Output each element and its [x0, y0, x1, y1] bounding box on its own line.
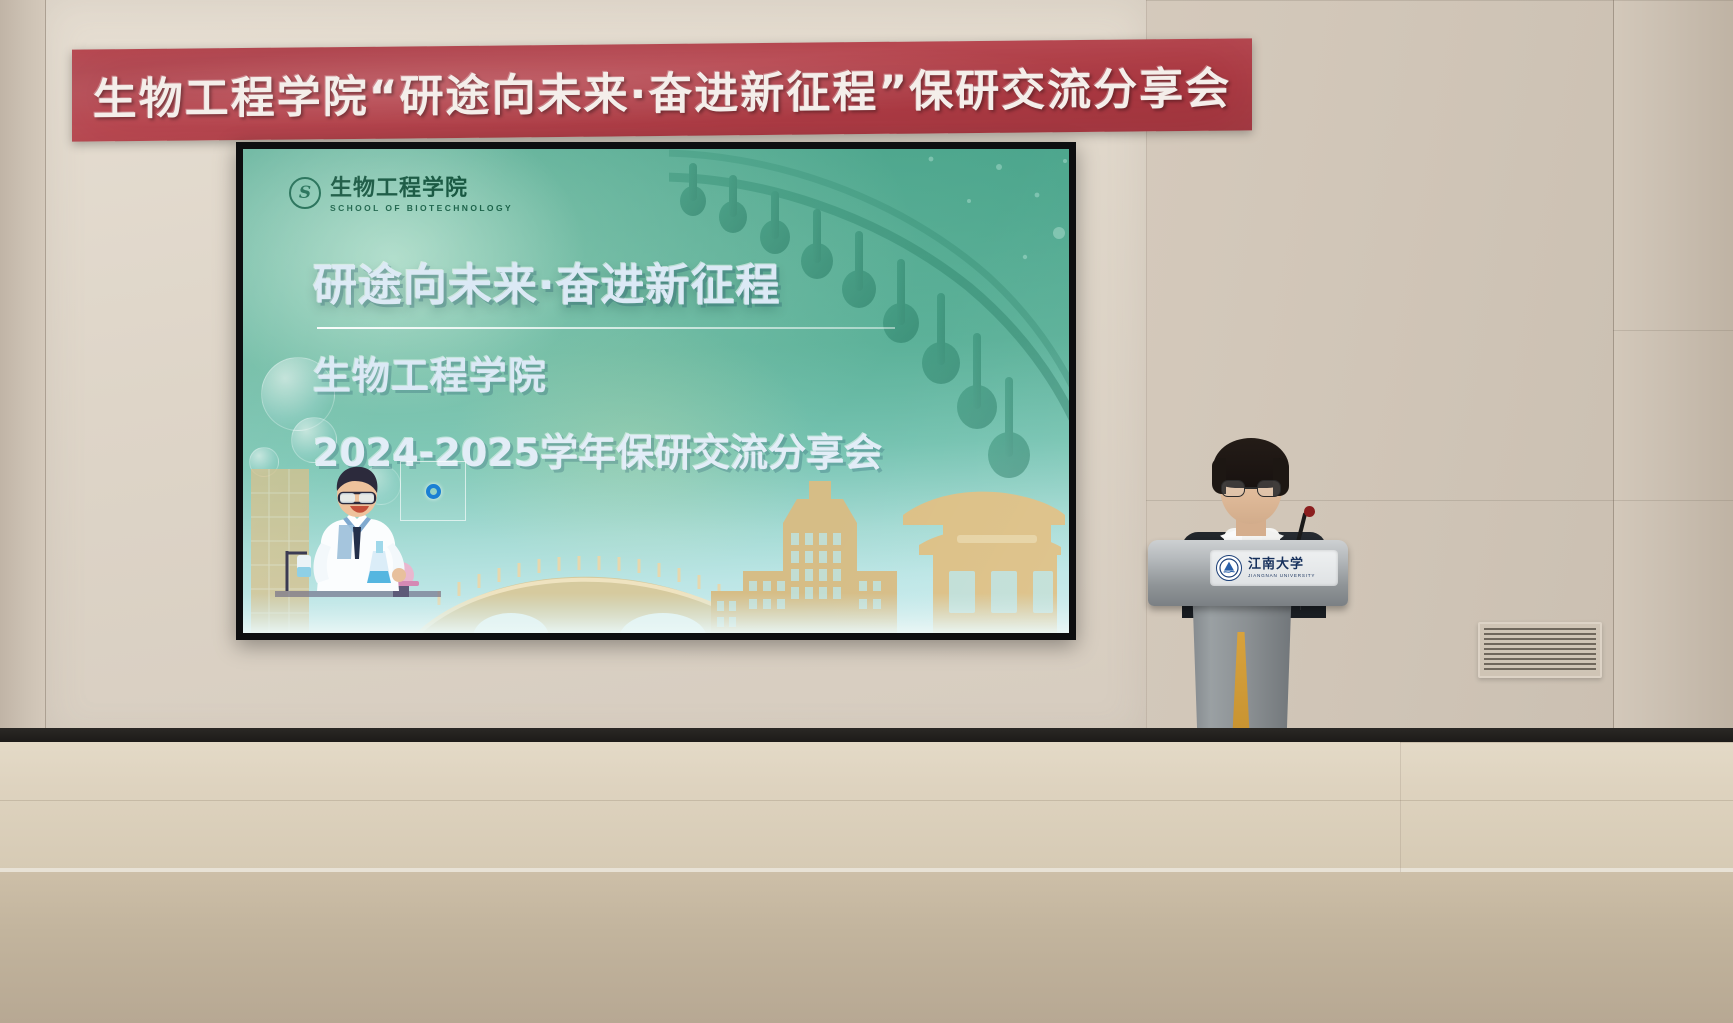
slide-logo-name-en: SCHOOL OF BIOTECHNOLOGY	[330, 203, 513, 213]
lecture-hall-scene: 生物工程学院“研途向未来·奋进新征程”保研交流分享会	[0, 0, 1733, 1023]
logo-mark-glyph: S	[299, 183, 311, 203]
campus-skyline-icon	[243, 453, 1069, 633]
event-banner: 生物工程学院“研途向未来·奋进新征程”保研交流分享会	[72, 38, 1252, 141]
stage-floor	[0, 742, 1733, 872]
projection-screen-frame: S 生物工程学院 SCHOOL OF BIOTECHNOLOGY 研途向未来·奋…	[236, 142, 1076, 640]
slide-overlay-box[interactable]	[400, 461, 466, 521]
slide-logo-name-cn: 生物工程学院	[330, 177, 513, 200]
lectern-university-name-cn: 江南大学	[1248, 558, 1315, 571]
floor-seam	[0, 800, 1733, 801]
eyeglasses-icon	[1221, 480, 1281, 497]
lectern-university-name-en: JIANGNAN UNIVERSITY	[1248, 573, 1315, 578]
slide-title-block: 研途向未来·奋进新征程 生物工程学院 2024-2025学年保研交流分享会	[313, 249, 913, 477]
event-banner-text: 生物工程学院“研途向未来·奋进新征程”保研交流分享会	[93, 53, 1232, 128]
air-vent-icon	[1478, 622, 1602, 678]
slide-title-line1: 研途向未来·奋进新征程	[313, 249, 913, 313]
slide-title-line2: 生物工程学院	[313, 345, 913, 400]
wall-seam	[1146, 0, 1733, 1]
slide-logo: S 生物工程学院 SCHOOL OF BIOTECHNOLOGY	[289, 177, 513, 213]
lectern-top: 江南大学 JIANGNAN UNIVERSITY	[1148, 540, 1348, 606]
presentation-slide[interactable]: S 生物工程学院 SCHOOL OF BIOTECHNOLOGY 研途向未来·奋…	[243, 149, 1069, 633]
jiangnan-university-emblem-icon	[1216, 555, 1242, 581]
floor-seam	[1400, 742, 1401, 872]
floor-seam	[1400, 742, 1733, 743]
air-vent-louvers	[1484, 628, 1596, 672]
lectern-nameplate: 江南大学 JIANGNAN UNIVERSITY	[1210, 550, 1338, 586]
stage-front-face	[0, 872, 1733, 1023]
microphone-head-icon	[1304, 506, 1315, 517]
wall-seam	[1613, 330, 1733, 331]
loading-ring-icon	[426, 484, 441, 499]
slide-title-divider	[317, 327, 895, 329]
wall-seam	[1613, 0, 1614, 742]
biotech-monogram-icon: S	[289, 177, 321, 209]
arched-bridge-icon	[419, 556, 763, 633]
wall-left-column	[0, 0, 46, 800]
bubble-icon	[249, 447, 279, 477]
wall-right-column	[1613, 0, 1733, 800]
